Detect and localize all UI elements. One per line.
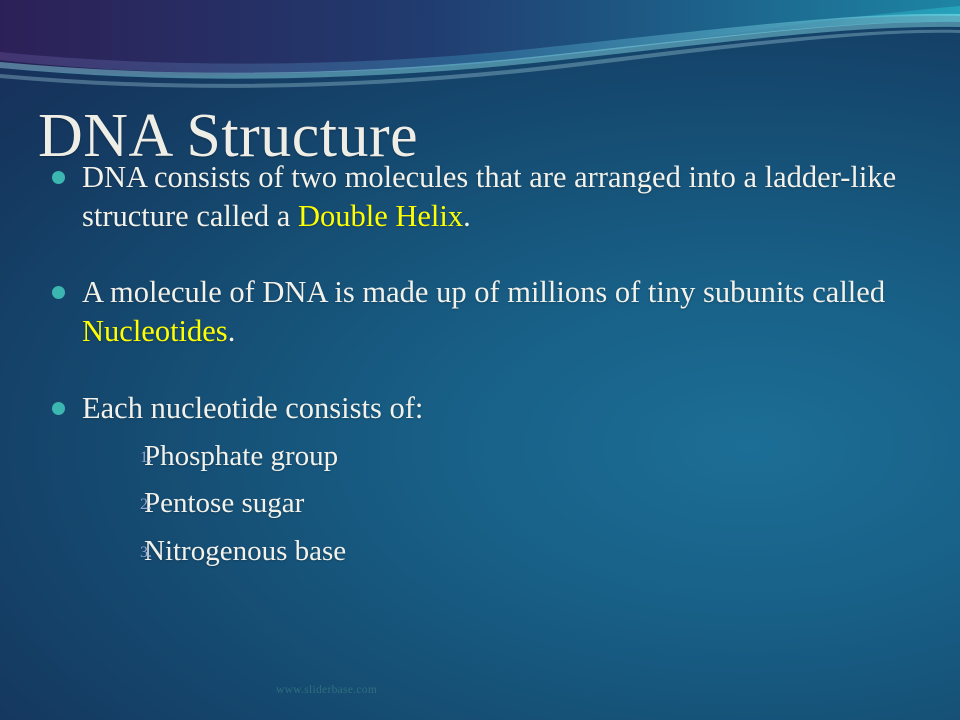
list-item: 2. Pentose sugar [82,485,930,523]
bullet-text-3a: Each nucleotide consists of: [82,391,423,425]
list-item: DNA consists of two molecules that are a… [40,158,930,235]
bullet-text-1a: DNA consists of two molecules that are a… [82,160,896,233]
swoosh-svg [0,0,960,110]
list-item: A molecule of DNA is made up of millions… [40,273,930,350]
numbered-item-label: Pentose sugar [144,487,304,519]
list-item: Each nucleotide consists of: 1. Phosphat… [40,389,930,571]
bullet-dot-icon [52,402,65,415]
source-watermark: www.sliderbase.com [276,684,377,696]
numbered-item-label: Nitrogenous base [144,535,346,567]
list-number: 3. [126,543,152,564]
list-number: 1. [126,448,152,469]
decorative-header-swoosh [0,0,960,110]
bullet-list: DNA consists of two molecules that are a… [40,158,930,571]
numbered-item-label: Phosphate group [144,440,338,472]
bullet-highlight-1: Double Helix [298,199,463,233]
bullet-dot-icon [52,286,65,299]
slide: DNA Structure DNA consists of two molecu… [0,0,960,720]
list-number: 2. [126,495,152,516]
bullet-highlight-2: Nucleotides [82,314,228,348]
list-item: 1. Phosphate group [82,438,930,476]
bullet-text-2b: . [228,314,236,348]
bullet-text-1b: . [463,199,471,233]
list-item: 3. Nitrogenous base [82,533,930,571]
bullet-text-2a: A molecule of DNA is made up of millions… [82,275,885,309]
slide-body: DNA consists of two molecules that are a… [40,158,930,581]
bullet-dot-icon [52,171,65,184]
numbered-list: 1. Phosphate group 2. Pentose sugar 3. N… [82,438,930,571]
